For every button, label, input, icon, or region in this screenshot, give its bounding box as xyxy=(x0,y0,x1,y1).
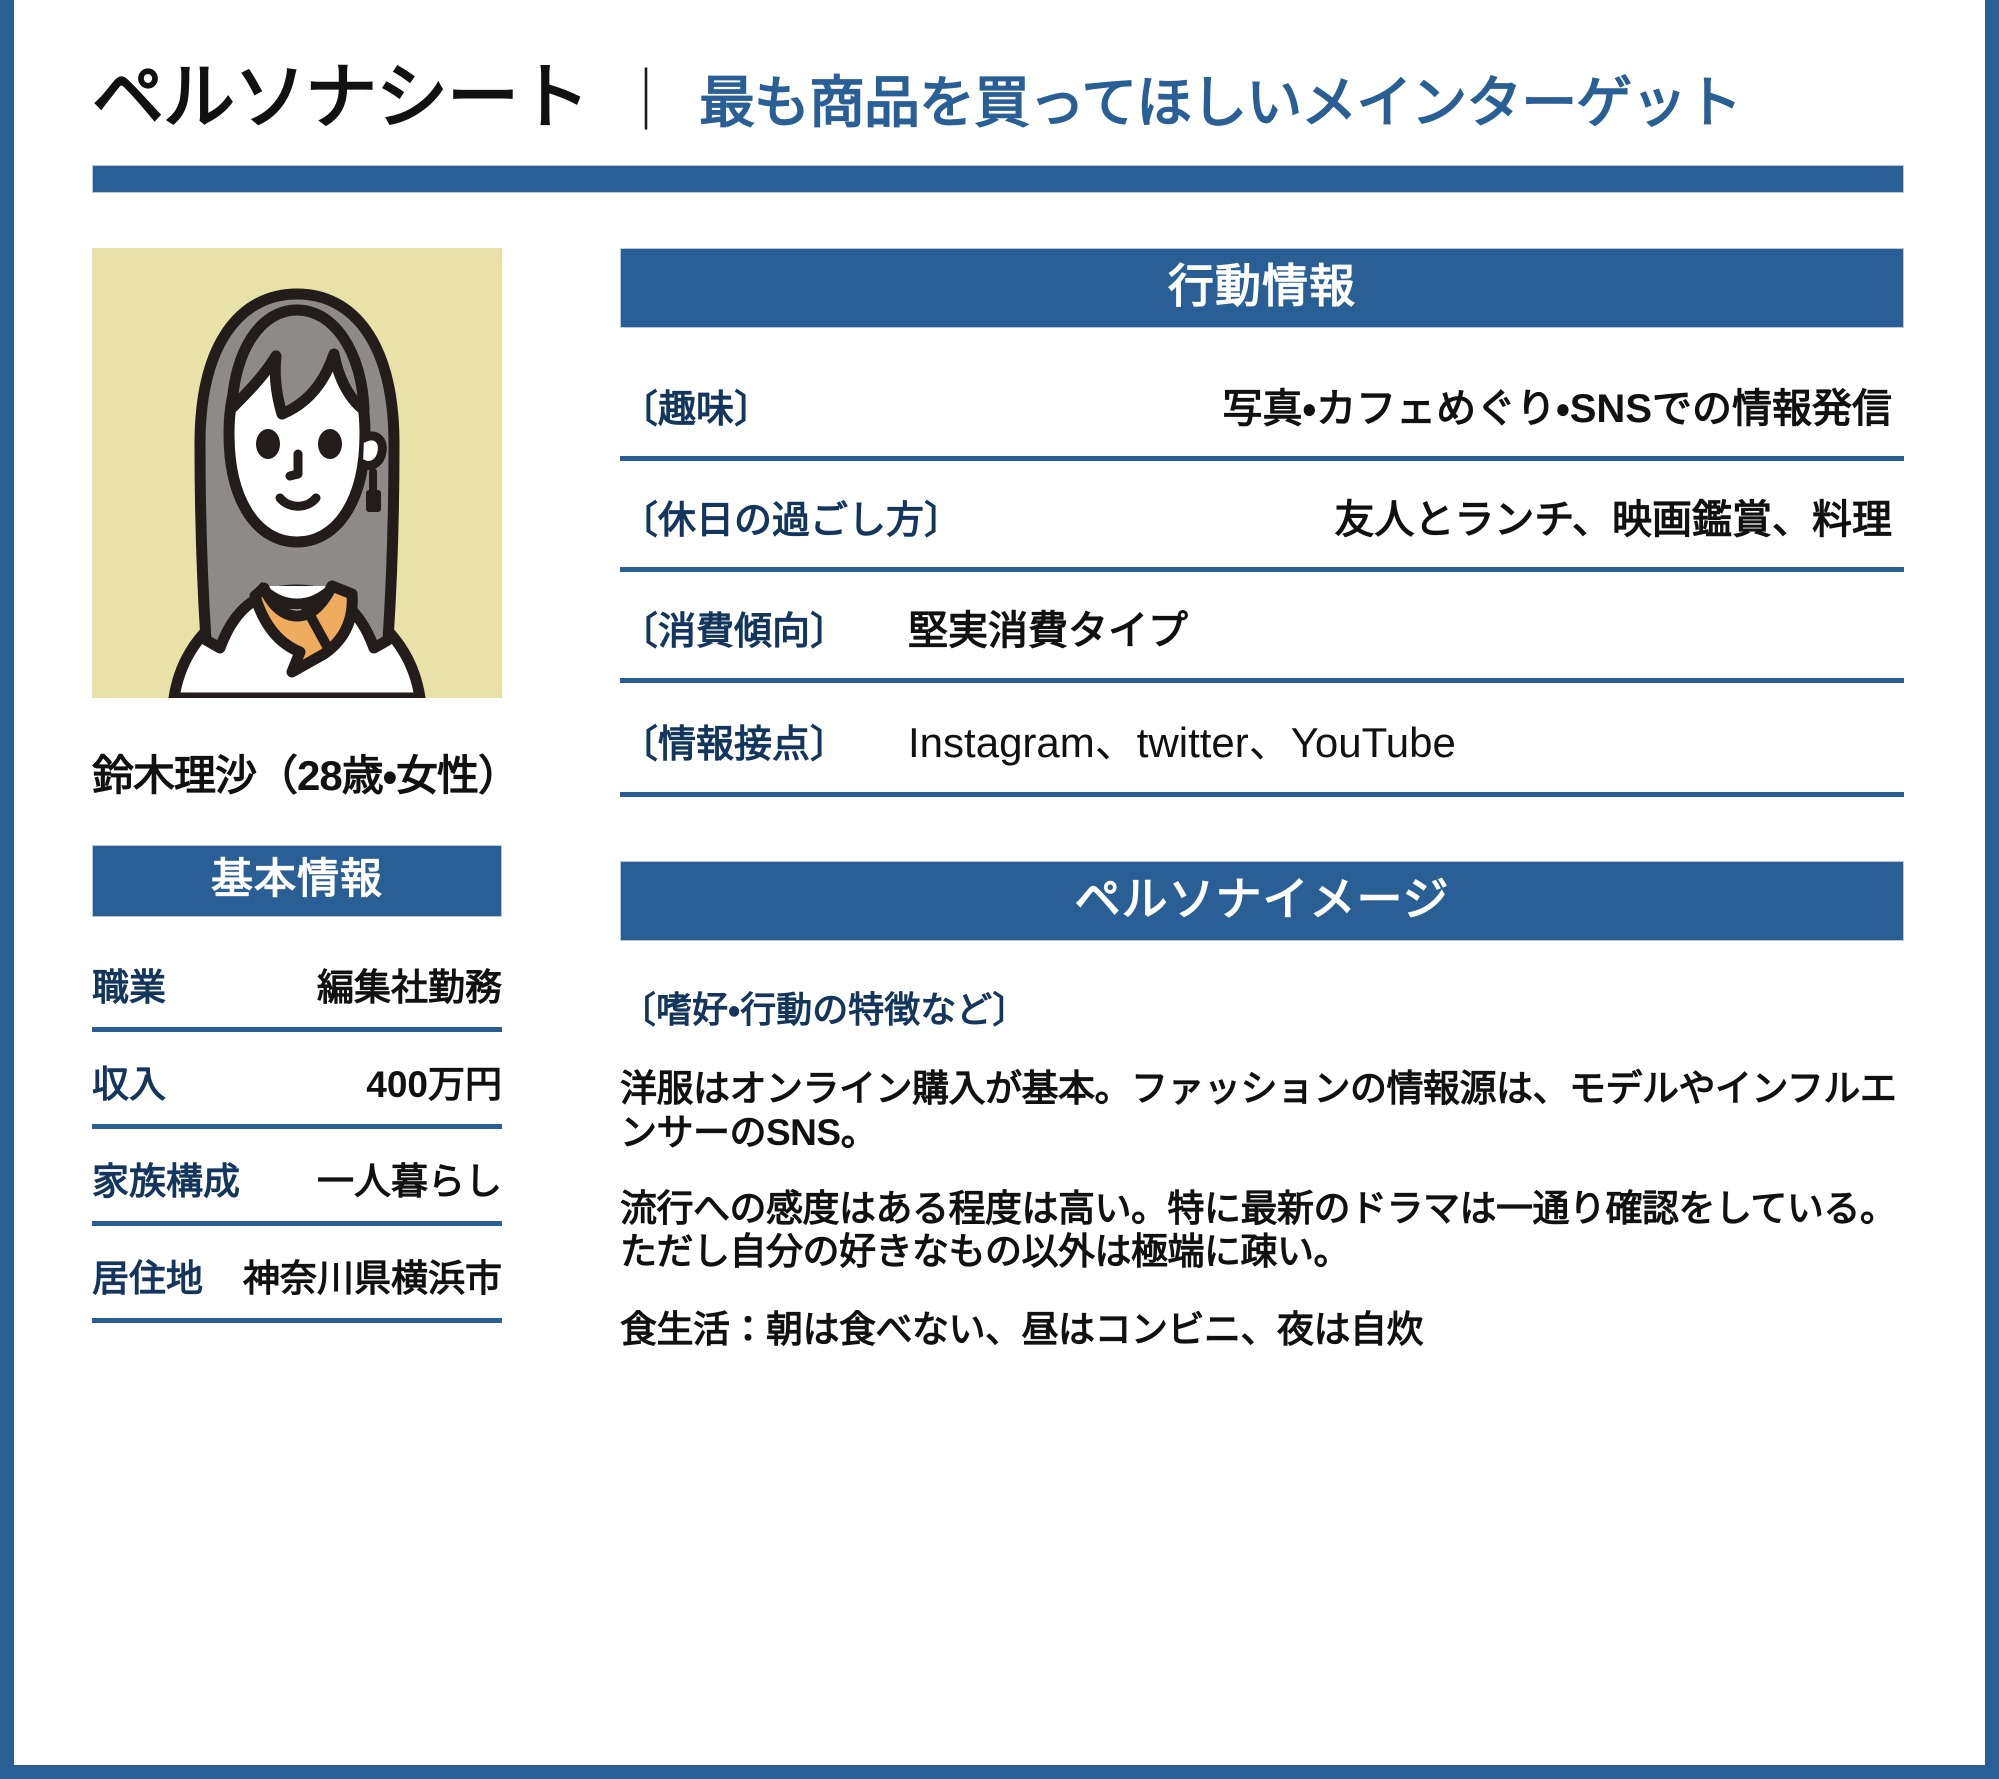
basic-info-value: 400万円 xyxy=(166,1054,502,1108)
basic-info-section: 基本情報 職業 編集社勤務 収入 400万円 家族構成 一人暮らし 居住地 神奈… xyxy=(92,845,502,1323)
basic-info-value: 編集社勤務 xyxy=(166,957,502,1011)
basic-info-value: 神奈川県横浜市 xyxy=(203,1248,502,1302)
title-separator: ｜ xyxy=(615,50,677,140)
behavior-info-section: 行動情報 〔趣味〕 写真・カフェめぐり・SNSでの情報発信 〔休日の過ごし方〕 … xyxy=(620,248,1904,797)
basic-info-list: 職業 編集社勤務 収入 400万円 家族構成 一人暮らし 居住地 神奈川県横浜市 xyxy=(92,935,502,1323)
basic-info-key: 居住地 xyxy=(92,1248,203,1302)
table-row: 〔趣味〕 写真・カフェめぐり・SNSでの情報発信 xyxy=(620,350,1904,461)
table-row: 職業 編集社勤務 xyxy=(92,935,502,1032)
table-row: 居住地 神奈川県横浜市 xyxy=(92,1226,502,1323)
avatar xyxy=(92,248,502,698)
page-title-main: ペルソナシート xyxy=(92,38,589,143)
basic-info-key: 職業 xyxy=(92,957,166,1011)
persona-image-note: 〔嗜好・行動の特徴など〕 xyxy=(620,981,1904,1033)
behavior-info-key: 〔趣味〕 xyxy=(620,378,772,433)
page-title: ペルソナシート ｜ 最も商品を買ってほしいメインターゲット xyxy=(92,38,1741,143)
basic-info-value: 一人暮らし xyxy=(240,1151,502,1205)
page-title-subtitle: 最も商品を買ってほしいメインターゲット xyxy=(699,58,1741,139)
persona-image-section: ペルソナイメージ 〔嗜好・行動の特徴など〕 洋服はオンライン購入が基本。ファッシ… xyxy=(620,861,1904,1352)
table-row: 〔休日の過ごし方〕 友人とランチ、映画鑑賞、料理 xyxy=(620,461,1904,572)
basic-info-key: 家族構成 xyxy=(92,1151,240,1205)
behavior-info-value: 友人とランチ、映画鑑賞、料理 xyxy=(962,487,1904,545)
persona-name: 鈴木理沙（28歳・女性） xyxy=(92,742,502,803)
behavior-info-key: 〔休日の過ごし方〕 xyxy=(620,489,962,544)
behavior-info-value: 写真・カフェめぐり・SNSでの情報発信 xyxy=(772,376,1904,434)
behavior-info-value: Instagram、twitter、YouTube xyxy=(848,709,1904,770)
left-column: 鈴木理沙（28歳・女性） 基本情報 職業 編集社勤務 収入 400万円 家族構成… xyxy=(92,248,502,1323)
basic-info-heading: 基本情報 xyxy=(92,845,502,917)
table-row: 家族構成 一人暮らし xyxy=(92,1129,502,1226)
persona-sheet-page: ペルソナシート ｜ 最も商品を買ってほしいメインターゲット xyxy=(0,0,1999,1779)
basic-info-key: 収入 xyxy=(92,1054,166,1108)
table-row: 〔情報接点〕 Instagram、twitter、YouTube xyxy=(620,683,1904,797)
right-column: 行動情報 〔趣味〕 写真・カフェめぐり・SNSでの情報発信 〔休日の過ごし方〕 … xyxy=(620,248,1904,1352)
behavior-info-value: 堅実消費タイプ xyxy=(848,598,1904,656)
behavior-info-key: 〔情報接点〕 xyxy=(620,713,848,768)
table-row: 収入 400万円 xyxy=(92,1032,502,1129)
persona-paragraph: 食生活：朝は食べない、昼はコンビニ、夜は自炊 xyxy=(620,1308,1904,1352)
behavior-info-list: 〔趣味〕 写真・カフェめぐり・SNSでの情報発信 〔休日の過ごし方〕 友人とラン… xyxy=(620,350,1904,797)
persona-paragraph: 流行への感度はある程度は高い。特に最新のドラマは一通り確認をしている。ただし自分… xyxy=(620,1188,1904,1274)
behavior-info-heading: 行動情報 xyxy=(620,248,1904,328)
table-row: 〔消費傾向〕 堅実消費タイプ xyxy=(620,572,1904,683)
title-accent-bar xyxy=(92,165,1904,193)
persona-image-heading: ペルソナイメージ xyxy=(620,861,1904,941)
behavior-info-key: 〔消費傾向〕 xyxy=(620,600,848,655)
persona-paragraph: 洋服はオンライン購入が基本。ファッションの情報源は、モデルやインフルエンサーのS… xyxy=(620,1067,1904,1154)
